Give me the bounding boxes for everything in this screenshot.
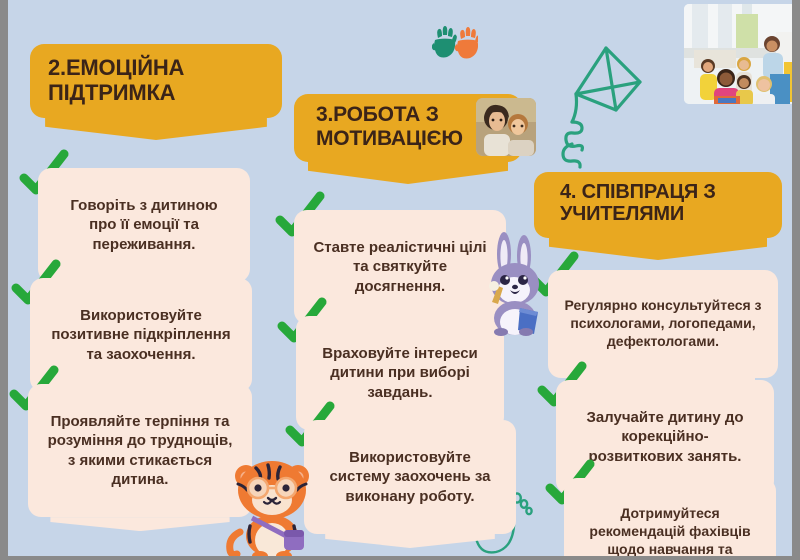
handprints-icon	[432, 26, 478, 60]
tip-item: Враховуйте інтереси дитини при виборі за…	[296, 316, 504, 430]
bubble-notch	[325, 534, 495, 548]
tip-bubble: Дотримуйтеся рекомендацій фахівців щодо …	[564, 478, 776, 556]
tip-bubble: Проявляйте терпіння та розуміння до труд…	[28, 384, 252, 517]
tip-bubble: Говоріть з дитиною про її емоції та пере…	[38, 168, 250, 282]
tip-bubble: Використовуйте систему заохочень за вико…	[304, 420, 516, 534]
tip-item: Говоріть з дитиною про її емоції та пере…	[38, 168, 250, 282]
tip-item: Регулярно консультуйтеся з психологами, …	[548, 270, 778, 378]
kite-icon	[544, 40, 674, 180]
tip-item: Використовуйте позитивне підкріплення та…	[30, 278, 252, 392]
section-heading-emotional-support: 2.ЕМОЦІЙНА ПІДТРИМКА	[30, 44, 282, 118]
tip-text: Говоріть з дитиною про її емоції та пере…	[70, 197, 217, 252]
tip-text: Враховуйте інтереси дитини при виборі за…	[322, 345, 478, 400]
tip-bubble: Ставте реалістичні цілі та святкуйте дос…	[294, 210, 506, 324]
tip-text: Ставте реалістичні цілі та святкуйте дос…	[313, 239, 486, 294]
tip-text: Проявляйте терпіння та розуміння до труд…	[48, 413, 233, 488]
page-border-right	[792, 0, 800, 560]
tip-text: Використовуйте систему заохочень за вико…	[329, 449, 490, 504]
tip-item: Проявляйте терпіння та розуміння до труд…	[28, 384, 252, 517]
section-heading-text: 2.ЕМОЦІЙНА ПІДТРИМКА	[30, 44, 282, 105]
classroom-photo	[684, 4, 792, 104]
tip-bubble: Регулярно консультуйтеся з психологами, …	[548, 270, 778, 378]
page-border-left	[0, 0, 8, 560]
tip-bubble: Використовуйте позитивне підкріплення та…	[30, 278, 252, 392]
section-heading-text: 4. СПІВПРАЦЯ З УЧИТЕЛЯМИ	[534, 172, 782, 226]
tip-item: Ставте реалістичні цілі та святкуйте дос…	[294, 210, 506, 324]
banner-tail	[308, 162, 509, 184]
tip-item: Дотримуйтеся рекомендацій фахівців щодо …	[564, 478, 776, 556]
tip-item: Використовуйте систему заохочень за вико…	[304, 420, 516, 534]
tip-text: Дотримуйтеся рекомендацій фахівців щодо …	[589, 505, 750, 556]
tip-text: Регулярно консультуйтеся з психологами, …	[564, 297, 761, 349]
tip-bubble: Залучайте дитину до корекційно- розвитко…	[556, 380, 774, 494]
section-heading-teacher-cooperation: 4. СПІВПРАЦЯ З УЧИТЕЛЯМИ	[534, 172, 782, 238]
tip-item: Залучайте дитину до корекційно- розвитко…	[556, 380, 774, 494]
bubble-notch	[50, 517, 229, 531]
infographic-poster: 2.ЕМОЦІЙНА ПІДТРИМКА 3.РОБОТА З МОТИВАЦІ…	[8, 0, 792, 556]
tip-text: Залучайте дитину до корекційно- розвитко…	[586, 409, 743, 464]
banner-tail	[549, 238, 767, 260]
tip-bubble: Враховуйте інтереси дитини при виборі за…	[296, 316, 504, 430]
mother-child-photo	[476, 98, 536, 156]
banner-tail	[45, 118, 267, 140]
tip-text: Використовуйте позитивне підкріплення та…	[51, 307, 230, 362]
